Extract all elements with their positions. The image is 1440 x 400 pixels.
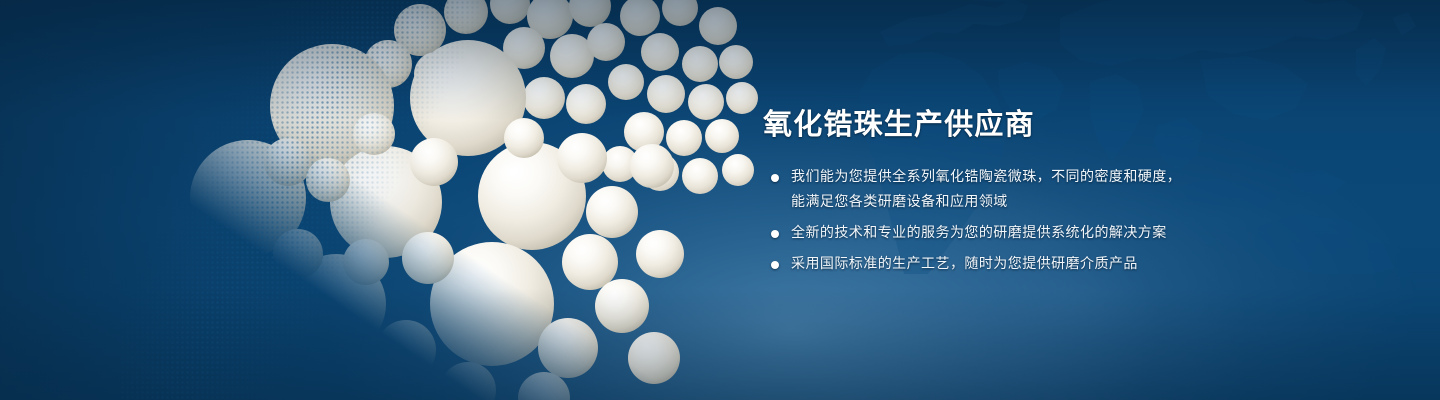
list-item-line: 采用国际标准的生产工艺，随时为您提供研磨介质产品 <box>791 252 1223 277</box>
bullet-dot-icon <box>771 261 779 269</box>
list-item-line: 能满足您各类研磨设备和应用领域 <box>791 190 1223 215</box>
bullet-dot-icon <box>771 174 779 182</box>
banner-copy: 氧化锆珠生产供应商 我们能为您提供全系列氧化锆陶瓷微珠，不同的密度和硬度， 能满… <box>763 104 1223 277</box>
list-item-line: 全新的技术和专业的服务为您的研磨提供系统化的解决方案 <box>791 221 1223 246</box>
feature-list: 我们能为您提供全系列氧化锆陶瓷微珠，不同的密度和硬度， 能满足您各类研磨设备和应… <box>763 165 1223 277</box>
background-vignette <box>0 0 1440 400</box>
list-item: 全新的技术和专业的服务为您的研磨提供系统化的解决方案 <box>763 221 1223 246</box>
list-item: 采用国际标准的生产工艺，随时为您提供研磨介质产品 <box>763 252 1223 277</box>
list-item-line: 我们能为您提供全系列氧化锆陶瓷微珠，不同的密度和硬度， <box>791 165 1223 190</box>
list-item: 我们能为您提供全系列氧化锆陶瓷微珠，不同的密度和硬度， 能满足您各类研磨设备和应… <box>763 165 1223 215</box>
page-title: 氧化锆珠生产供应商 <box>763 104 1223 144</box>
bullet-dot-icon <box>771 230 779 238</box>
hero-banner: 氧化锆珠生产供应商 我们能为您提供全系列氧化锆陶瓷微珠，不同的密度和硬度， 能满… <box>0 0 1440 400</box>
